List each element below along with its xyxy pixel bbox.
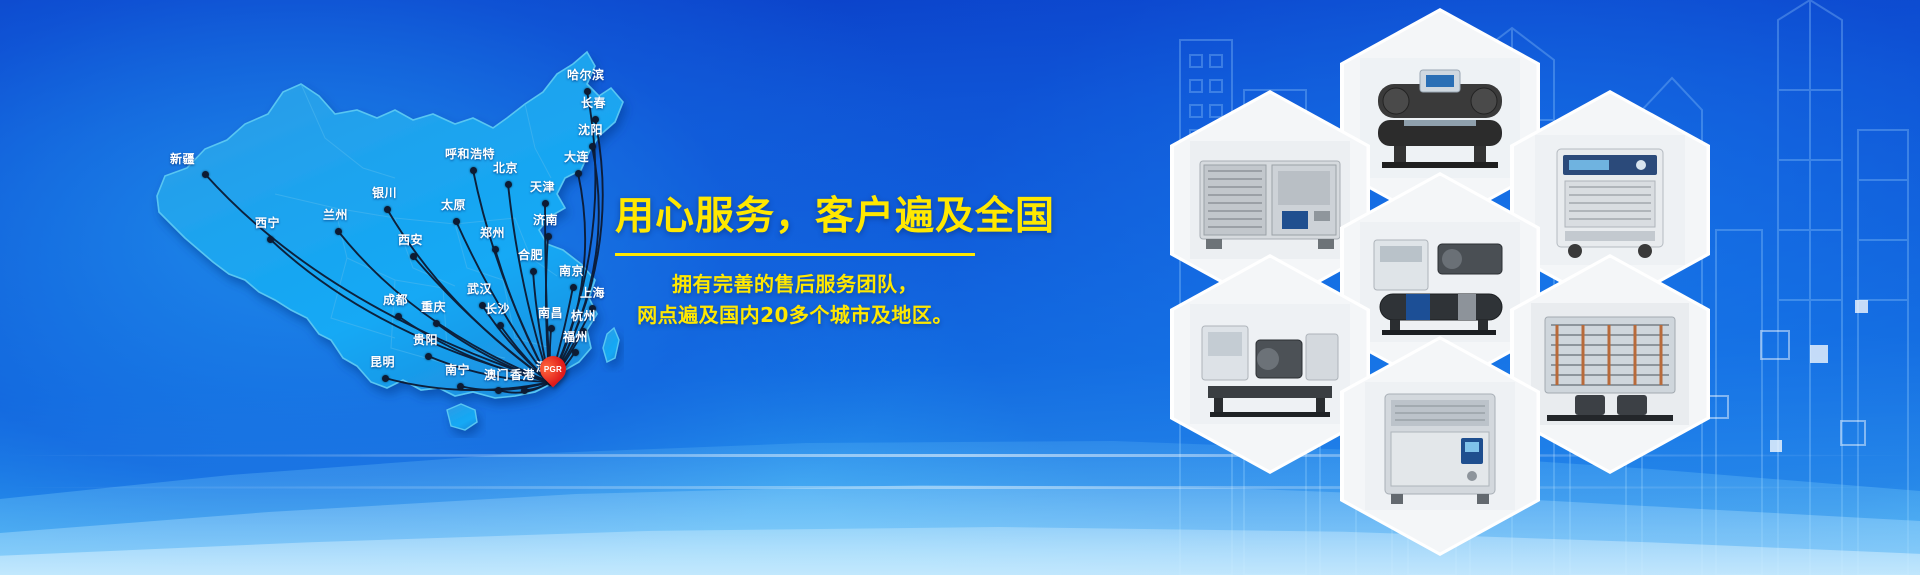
- city-label: 南宁: [445, 364, 470, 376]
- city-label: 重庆: [421, 301, 446, 313]
- city-dot[interactable]: [592, 116, 599, 123]
- city-dot[interactable]: [497, 322, 504, 329]
- city-label: 沈阳: [578, 124, 603, 136]
- city-dot[interactable]: [453, 218, 460, 225]
- city-dot[interactable]: [492, 246, 499, 253]
- headline-block: 用心服务，客户遍及全国 拥有完善的售后服务团队， 网点遍及国内20多个城市及地区…: [615, 196, 975, 331]
- banner-subline-2: 网点遍及国内20多个城市及地区。: [615, 300, 975, 331]
- city-dot[interactable]: [542, 200, 549, 207]
- hub-marker-shenzhen[interactable]: PGR: [536, 356, 570, 390]
- city-label: 南昌: [538, 307, 563, 319]
- city-label: 银川: [372, 187, 397, 199]
- map-pin-icon: PGR: [535, 351, 572, 388]
- city-label: 南京: [559, 265, 584, 277]
- city-dot[interactable]: [521, 387, 528, 394]
- city-dot[interactable]: [335, 228, 342, 235]
- city-dot[interactable]: [495, 387, 502, 394]
- city-label: 贵阳: [413, 334, 438, 346]
- condensing-unit-image: [1190, 141, 1350, 259]
- chiller-cabinet-image: [1365, 382, 1515, 510]
- city-label: 澳门: [484, 369, 509, 381]
- city-label: 福州: [563, 331, 588, 343]
- city-dot[interactable]: [410, 253, 417, 260]
- city-label: 西安: [398, 234, 423, 246]
- banner-subline-1: 拥有完善的售后服务团队，: [615, 269, 975, 300]
- city-label: 昆明: [370, 356, 395, 368]
- city-label: 太原: [441, 199, 466, 211]
- city-dot[interactable]: [425, 353, 432, 360]
- city-label: 上海: [580, 287, 605, 299]
- city-dot[interactable]: [575, 170, 582, 177]
- city-dot[interactable]: [548, 325, 555, 332]
- city-label: 大连: [564, 151, 589, 163]
- taiwan-island: [603, 328, 619, 362]
- city-label: 北京: [493, 162, 518, 174]
- city-label: 兰州: [323, 209, 348, 221]
- city-label: 武汉: [467, 283, 492, 295]
- screw-chiller-image: [1360, 58, 1520, 178]
- city-label: 天津: [530, 181, 555, 193]
- product-hex-condenser-coil-unit[interactable]: [1510, 254, 1710, 474]
- coil-unit-image: [1531, 303, 1689, 425]
- portable-chiller-image: [1535, 135, 1685, 265]
- product-hexagon-grid: [1170, 0, 1810, 540]
- city-dot[interactable]: [382, 375, 389, 382]
- city-dot[interactable]: [457, 383, 464, 390]
- decorative-square: [1810, 345, 1828, 363]
- city-label: 香港: [510, 369, 535, 381]
- hub-marker-label: PGR: [540, 356, 566, 382]
- city-dot[interactable]: [395, 313, 402, 320]
- city-label: 郑州: [480, 227, 505, 239]
- city-dot[interactable]: [384, 206, 391, 213]
- city-dot[interactable]: [570, 284, 577, 291]
- tank-unit-image: [1360, 222, 1520, 342]
- city-dot[interactable]: [505, 181, 512, 188]
- city-label: 成都: [383, 294, 408, 306]
- city-dot[interactable]: [584, 88, 591, 95]
- city-dot[interactable]: [433, 320, 440, 327]
- city-label: 合肥: [518, 249, 543, 261]
- city-dot[interactable]: [470, 167, 477, 174]
- city-label: 杭州: [571, 310, 596, 322]
- city-dot[interactable]: [545, 233, 552, 240]
- city-dot[interactable]: [589, 143, 596, 150]
- city-label: 西宁: [255, 217, 280, 229]
- city-label: 哈尔滨: [567, 69, 605, 81]
- service-network-banner: 新疆呼和浩特哈尔滨长春沈阳大连北京天津银川太原兰州西宁西安郑州济南合肥南京武汉上…: [0, 0, 1920, 575]
- city-label: 新疆: [170, 153, 195, 165]
- open-frame-unit-image: [1190, 304, 1350, 424]
- decorative-square: [1840, 420, 1866, 446]
- city-label: 呼和浩特: [445, 148, 495, 160]
- city-dot[interactable]: [267, 236, 274, 243]
- city-label: 济南: [533, 214, 558, 226]
- hainan-island: [447, 404, 477, 430]
- banner-headline: 用心服务，客户遍及全国: [615, 196, 975, 239]
- city-label: 长沙: [485, 303, 510, 315]
- city-dot[interactable]: [572, 349, 579, 356]
- headline-divider: [615, 253, 975, 256]
- city-dot[interactable]: [202, 171, 209, 178]
- city-dot[interactable]: [530, 268, 537, 275]
- city-label: 长春: [581, 97, 606, 109]
- decorative-square: [1855, 300, 1868, 313]
